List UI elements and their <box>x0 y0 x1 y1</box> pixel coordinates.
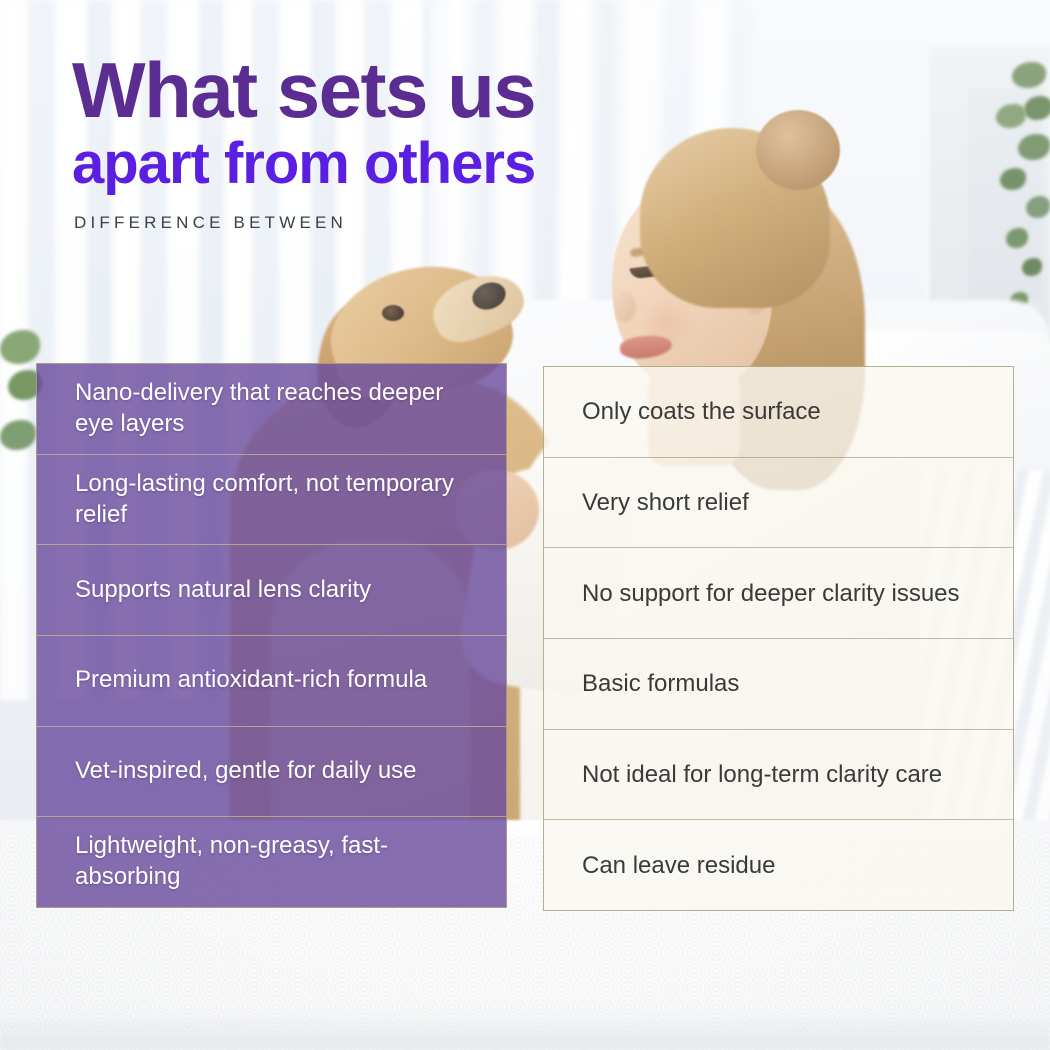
drawback-text: No support for deeper clarity issues <box>582 578 960 609</box>
table-row: Supports natural lens clarity <box>37 545 506 636</box>
floor <box>0 1008 1050 1050</box>
benefit-text: Vet-inspired, gentle for daily use <box>75 756 417 787</box>
benefit-text: Premium antioxidant-rich formula <box>75 665 427 696</box>
page-title-line-2: apart from others <box>72 134 692 195</box>
woman-hair-bun <box>756 110 840 190</box>
table-row: Not ideal for long-term clarity care <box>544 730 1013 821</box>
right-rows-container: Only coats the surface Very short relief… <box>544 367 1013 910</box>
table-row: Lightweight, non-greasy, fast-absorbing <box>37 817 506 907</box>
drawback-text: Very short relief <box>582 487 749 518</box>
dog-eye <box>382 305 404 321</box>
drawback-text: Basic formulas <box>582 668 739 699</box>
table-row: Can leave residue <box>544 820 1013 910</box>
table-row: No support for deeper clarity issues <box>544 548 1013 639</box>
poster-canvas: What sets us apart from others DIFFERENC… <box>0 0 1050 1050</box>
table-row: Long-lasting comfort, not temporary reli… <box>37 455 506 546</box>
comparison-panel-right: Only coats the surface Very short relief… <box>543 366 1014 911</box>
drawback-text: Not ideal for long-term clarity care <box>582 759 942 790</box>
table-row: Basic formulas <box>544 639 1013 730</box>
woman-nose <box>614 292 636 322</box>
benefit-text: Supports natural lens clarity <box>75 575 371 606</box>
comparison-panel-left: Nano-delivery that reaches deeper eye la… <box>36 363 507 908</box>
page-subtitle: DIFFERENCE BETWEEN <box>74 213 692 233</box>
drawback-text: Only coats the surface <box>582 396 821 427</box>
table-row: Vet-inspired, gentle for daily use <box>37 727 506 818</box>
table-row: Only coats the surface <box>544 367 1013 458</box>
header: What sets us apart from others DIFFERENC… <box>72 52 692 233</box>
plant-leaf <box>1024 96 1050 120</box>
table-row: Premium antioxidant-rich formula <box>37 636 506 727</box>
page-title-line-1: What sets us <box>72 52 692 128</box>
benefit-text: Lightweight, non-greasy, fast-absorbing <box>75 831 480 892</box>
left-rows-container: Nano-delivery that reaches deeper eye la… <box>37 364 506 907</box>
table-row: Nano-delivery that reaches deeper eye la… <box>37 364 506 455</box>
table-row: Very short relief <box>544 458 1013 549</box>
benefit-text: Nano-delivery that reaches deeper eye la… <box>75 378 480 439</box>
drawback-text: Can leave residue <box>582 850 775 881</box>
benefit-text: Long-lasting comfort, not temporary reli… <box>75 469 480 530</box>
